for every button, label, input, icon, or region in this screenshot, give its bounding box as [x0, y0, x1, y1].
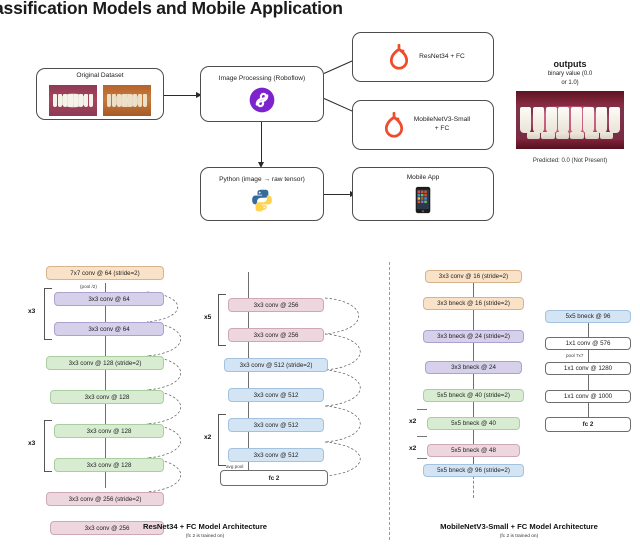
resnet-block-4: 3x3 conv @ 128 [50, 390, 164, 404]
mobile-app-node: Mobile App [352, 167, 494, 221]
mobilenet-block-5: 5x5 bneck @ 40 [427, 417, 520, 430]
resnet-multiplier-x3-bottom: x3 [28, 440, 35, 447]
pytorch-logo [387, 44, 411, 70]
resnet-multiplier-x3-top: x3 [28, 308, 35, 315]
resnet-block-1: 3x3 conv @ 64 [54, 292, 164, 306]
resnet-right-block-2: 3x3 conv @ 512 (stride=2) [224, 358, 328, 372]
resnet-block-7: 3x3 conv @ 256 (stride=2) [46, 492, 164, 506]
mobilenet-block-0: 3x3 conv @ 16 (stride=2) [425, 270, 522, 283]
smartphone-icon [415, 186, 431, 214]
panel-divider [389, 262, 390, 540]
resnet-right-block-3: 3x3 conv @ 512 [228, 388, 324, 402]
mobilenet-block-4: 5x5 bneck @ 40 (stride=2) [423, 389, 524, 402]
python-node: Python (image → raw tensor) [200, 167, 324, 221]
resnet-right-block-0: 3x3 conv @ 256 [228, 298, 324, 312]
resnet-bracket-x2 [218, 414, 226, 466]
mobilenet-block-3: 3x3 bneck @ 24 [425, 361, 522, 374]
resnet-bracket-x5 [218, 294, 226, 346]
arrow-python-to-mobileapp [324, 194, 352, 195]
resnet-right-block-4: 3x3 conv @ 512 [228, 418, 324, 432]
image-processing-label: Image Processing (Roboflow) [219, 75, 306, 84]
mobilenet-tick-2 [417, 436, 427, 437]
pytorch-logo [382, 112, 406, 138]
mobilenet-right-block-4: fc 2 [545, 417, 631, 432]
resnet-block-6: 3x3 conv @ 128 [54, 458, 164, 472]
resnet-multiplier-x2: x2 [204, 434, 211, 441]
original-dataset-label: Original Dataset [76, 72, 123, 81]
mobilenet-right-block-2: 1x1 conv @ 1280 [545, 362, 631, 375]
roboflow-logo [249, 87, 275, 113]
image-processing-node: Image Processing (Roboflow) [200, 66, 324, 122]
outputs-heading: outputs [507, 59, 633, 69]
resnet-right-block-1: 3x3 conv @ 256 [228, 328, 324, 342]
resnet-bracket-x3-top [44, 288, 52, 340]
python-logo [250, 188, 274, 212]
outputs-subtitle-line2: or 1.0) [507, 80, 633, 86]
resnet-block-3: 3x3 conv @ 128 (stride=2) [46, 356, 164, 370]
mobilenet-panel-caption: MobileNetV3-Small + FC Model Architectur… [398, 522, 640, 531]
mobilenetv3-fc-label-line1: MobileNetV3-Small [414, 116, 470, 125]
mobilenetv3-fc-label-line2: + FC [414, 125, 470, 134]
page-title: assification Models and Mobile Applicati… [0, 0, 343, 19]
mobilenet-pool-label: pool 7x7 [566, 353, 583, 358]
mobilenet-panel-subcaption: (fc 2 is trained on) [398, 534, 640, 539]
dataset-thumb-1 [49, 85, 97, 116]
arrow-dataset-to-processing [164, 95, 198, 96]
resnet-panel-subcaption: (fc 2 is trained on) [60, 534, 350, 539]
mobilenetv3-fc-node: MobileNetV3-Small + FC [352, 100, 494, 150]
mobilenet-right-block-1: 1x1 conv @ 576 [545, 337, 631, 350]
mobilenet-block-7: 5x5 bneck @ 96 (stride=2) [423, 464, 524, 477]
resnet-bracket-x3-bottom [44, 420, 52, 472]
resnet-pool-label: (pool /2) [80, 284, 97, 289]
mobile-app-label: Mobile App [407, 174, 440, 183]
outputs-subtitle-line1: binary value (0.0 [507, 71, 633, 77]
mobilenet-block-2: 3x3 bneck @ 24 (stride=2) [423, 330, 524, 343]
prediction-label: Predicted: 0.0 (Not Present) [507, 158, 633, 164]
mobilenet-multiplier-48: x2 [409, 445, 416, 452]
resnet-block-2: 3x3 conv @ 64 [54, 322, 164, 336]
resnet-block-0: 7x7 conv @ 64 (stride=2) [46, 266, 164, 280]
output-sample-photo [516, 91, 624, 149]
dataset-thumb-2 [103, 85, 151, 116]
mobilenet-block-6: 5x5 bneck @ 48 [427, 444, 520, 457]
mobilenet-right-block-0: 5x5 bneck @ 96 [545, 310, 631, 323]
resnet-block-5: 3x3 conv @ 128 [54, 424, 164, 438]
mobilenet-multiplier-40: x2 [409, 418, 416, 425]
arrow-processing-to-python [261, 122, 262, 164]
mobilenet-block-1: 3x3 bneck @ 16 (stride=2) [423, 297, 524, 310]
resnet-right-block-6: fc 2 [220, 470, 328, 486]
mobilenet-tick-3 [417, 458, 427, 459]
python-label: Python (image → raw tensor) [219, 176, 305, 185]
original-dataset-node: Original Dataset [36, 68, 164, 120]
resnet-avgpool-label: avg pool [226, 464, 243, 469]
resnet-right-block-5: 3x3 conv @ 512 [228, 448, 324, 462]
dataset-thumbnails [49, 85, 151, 116]
resnet-panel-caption: ResNet34 + FC Model Architecture [60, 522, 350, 531]
mobilenet-right-block-3: 1x1 conv @ 1000 [545, 390, 631, 403]
mobilenet-tick-1 [417, 409, 427, 410]
resnet34-fc-node: ResNet34 + FC [352, 32, 494, 82]
resnet-multiplier-x5: x5 [204, 314, 211, 321]
mobilenet-left-spine-dashed [473, 476, 474, 498]
resnet34-fc-label: ResNet34 + FC [419, 53, 465, 62]
